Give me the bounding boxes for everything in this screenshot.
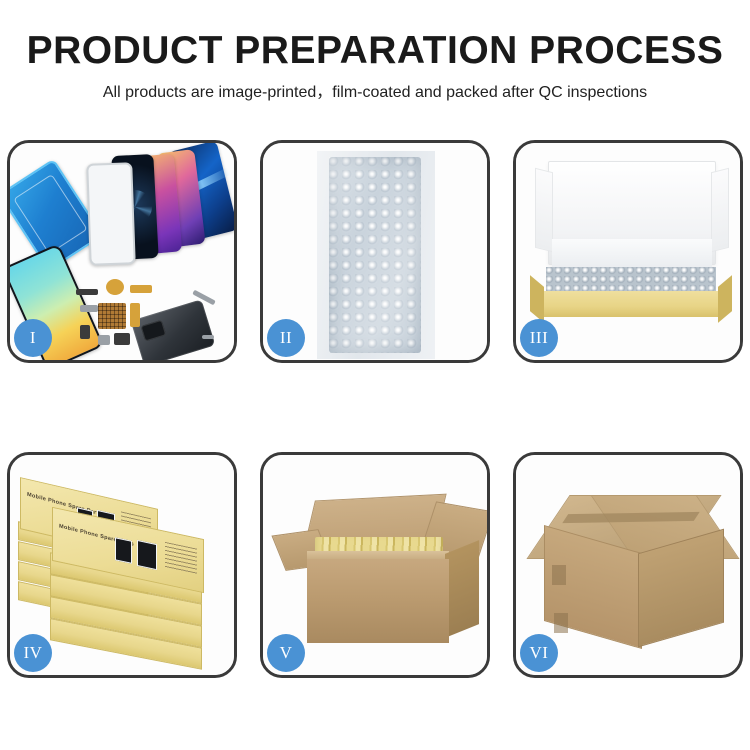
part-coil-icon bbox=[106, 279, 124, 295]
mailer-bubble-fill-icon bbox=[546, 267, 716, 293]
part-flex-strip-icon bbox=[130, 303, 140, 327]
process-step-panel-2[interactable]: II bbox=[260, 140, 490, 363]
page-header: PRODUCT PREPARATION PROCESS All products… bbox=[0, 0, 750, 128]
sealed-carton bbox=[538, 495, 728, 645]
carton-tab-lower-icon bbox=[554, 613, 568, 633]
part-speaker-icon bbox=[98, 335, 110, 345]
process-step-panel-5[interactable]: V bbox=[260, 452, 490, 678]
step-badge-3: III bbox=[520, 319, 558, 357]
box-stack: Mobile Phone Spare Parts Mobile Phone Sp… bbox=[16, 479, 234, 659]
step-badge-6: VI bbox=[520, 634, 558, 672]
mailer-foam-icon bbox=[552, 239, 712, 269]
part-screw-icon bbox=[202, 335, 214, 339]
part-camera-icon bbox=[114, 333, 130, 345]
part-chip-grid-icon bbox=[98, 303, 126, 329]
open-carton bbox=[277, 491, 477, 651]
phone-backplate-icon bbox=[131, 299, 216, 360]
carton-body-icon bbox=[307, 559, 449, 643]
step-badge-2: II bbox=[267, 319, 305, 357]
bubble-wrap-icon bbox=[329, 157, 421, 353]
part-flex-cable-icon bbox=[130, 285, 152, 293]
process-step-panel-4[interactable]: Mobile Phone Spare Parts Mobile Phone Sp… bbox=[7, 452, 237, 678]
page-subtitle: All products are image-printed，film-coat… bbox=[0, 82, 750, 104]
part-module-icon bbox=[80, 325, 90, 339]
mailer-box-front-icon bbox=[540, 291, 722, 317]
page-title: PRODUCT PREPARATION PROCESS bbox=[0, 28, 750, 74]
process-step-panel-6[interactable]: VI bbox=[513, 452, 743, 678]
part-bracket-icon bbox=[80, 305, 98, 312]
step-badge-1: I bbox=[14, 319, 52, 357]
carton-side-icon bbox=[445, 540, 479, 638]
part-connector-icon bbox=[76, 289, 98, 295]
box-thumbnail bbox=[115, 537, 132, 564]
process-step-grid: I II III bbox=[7, 140, 743, 680]
step-badge-4: IV bbox=[14, 634, 52, 672]
step-badge-5: V bbox=[267, 634, 305, 672]
screen-glass-icon bbox=[86, 162, 136, 266]
process-step-panel-1[interactable]: I bbox=[7, 140, 237, 363]
process-step-panel-3[interactable]: III bbox=[513, 140, 743, 363]
box-thumbnail bbox=[137, 540, 157, 570]
carton-tab-upper-icon bbox=[552, 565, 566, 585]
